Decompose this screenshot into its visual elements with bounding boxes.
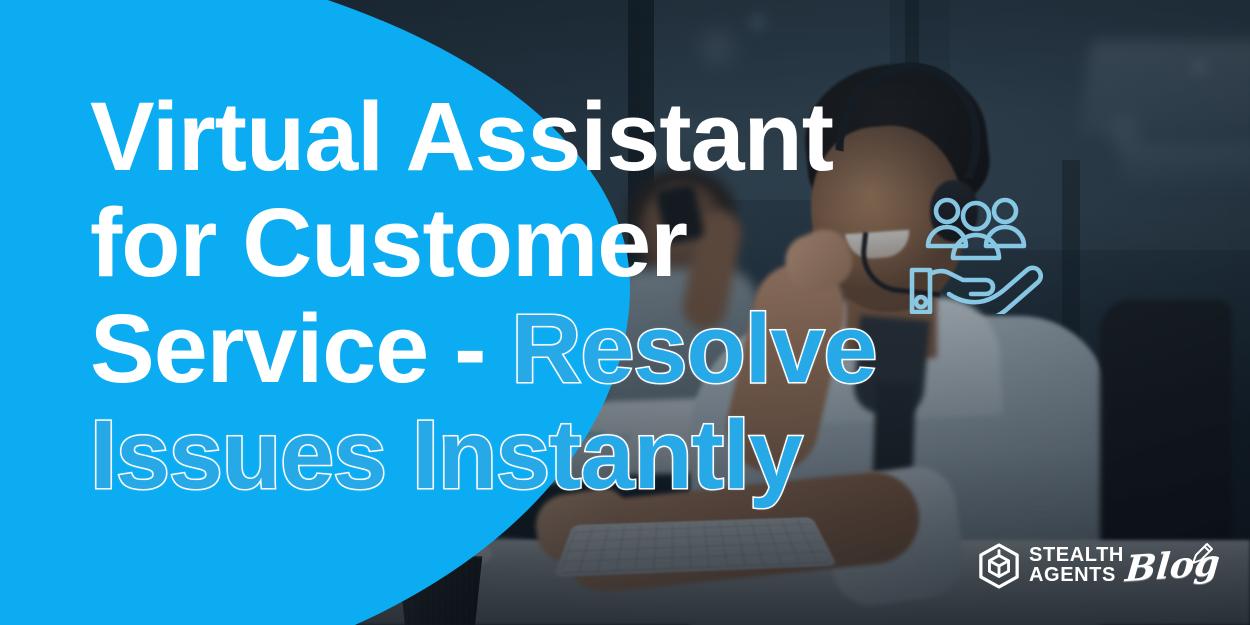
logo-line-agents: AGENTS (1029, 566, 1124, 586)
logo-text-stack: STEALTH AGENTS (1029, 546, 1124, 585)
headline-segment: Virtual Assistant (90, 82, 833, 191)
headline-line-4: Issues Instantly (90, 402, 1150, 508)
headline-segment: for Customer (90, 188, 687, 297)
pen-nib-icon (1190, 542, 1214, 566)
headline-line-2: for Customer (90, 190, 1150, 296)
headline-segment-accent: Issues Instantly (90, 400, 802, 509)
hexagon-cube-icon (978, 543, 1020, 589)
headline: Virtual Assistant for Customer Service -… (90, 84, 1150, 508)
headline-segment: Service - (90, 294, 511, 403)
blog-hero-banner: Virtual Assistant for Customer Service -… (0, 0, 1250, 625)
stealth-agents-blog-logo[interactable]: STEALTH AGENTS Blog (978, 540, 1218, 592)
headline-line-3: Service - Resolve (90, 296, 1150, 402)
headline-segment-accent: Resolve (511, 294, 876, 403)
headline-line-1: Virtual Assistant (90, 84, 1150, 190)
